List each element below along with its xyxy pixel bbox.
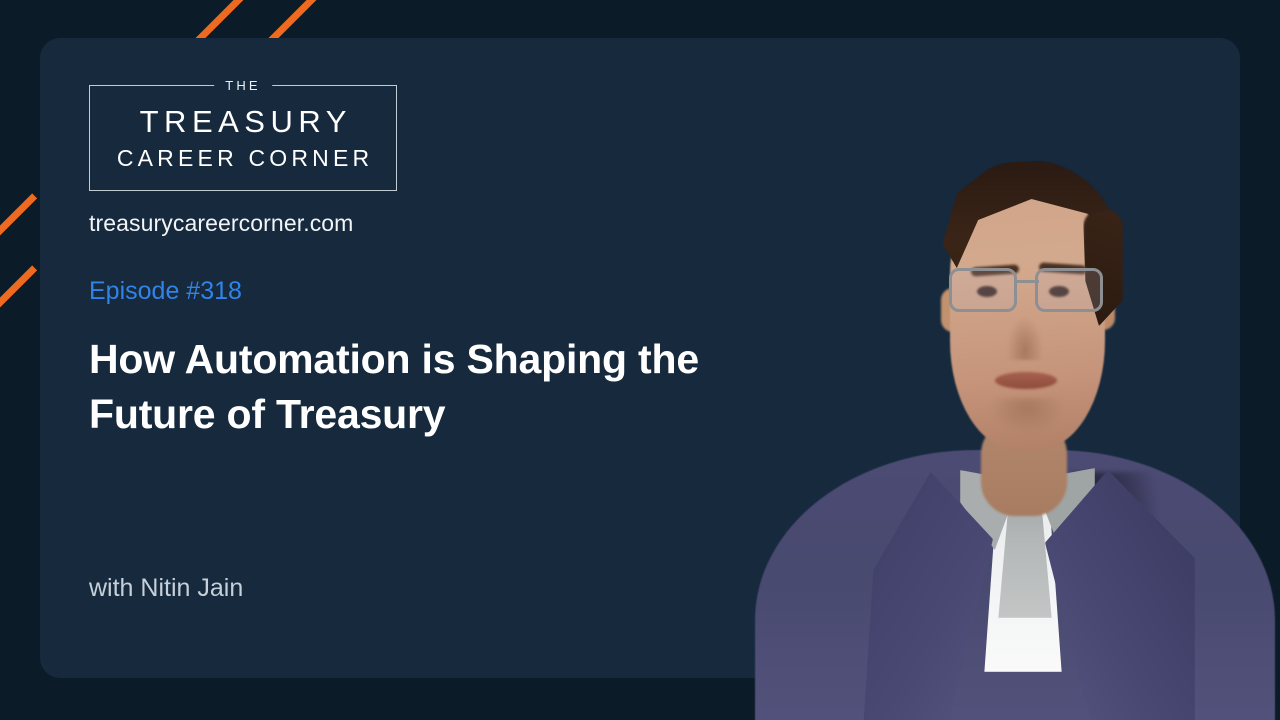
portrait-nose [1007, 316, 1043, 360]
guest-credit: with Nitin Jain [89, 572, 243, 604]
logo-line-treasury: TREASURY [134, 102, 352, 142]
portrait-mouth [995, 372, 1057, 389]
card-content: THE TREASURY CAREER CORNER treasurycaree… [89, 85, 789, 442]
episode-title: How Automation is Shaping the Future of … [89, 332, 759, 442]
stripe-left-2-icon [0, 265, 37, 356]
logo-eyebrow-the: THE [214, 76, 272, 95]
stripe-left-1-icon [0, 193, 37, 284]
guest-portrait [745, 120, 1280, 720]
portrait-glasses-icon [943, 268, 1115, 320]
portrait-chin [991, 398, 1063, 432]
logo-line-career-corner: CAREER CORNER [113, 142, 374, 174]
portrait-glasses-bridge [1015, 280, 1039, 283]
episode-number: Episode #318 [89, 276, 789, 306]
portrait-lens-left [949, 268, 1017, 312]
website-url: treasurycareercorner.com [89, 208, 789, 238]
brand-logo: THE TREASURY CAREER CORNER [89, 85, 397, 191]
guest-portrait-image [745, 120, 1280, 720]
portrait-lens-right [1035, 268, 1103, 312]
